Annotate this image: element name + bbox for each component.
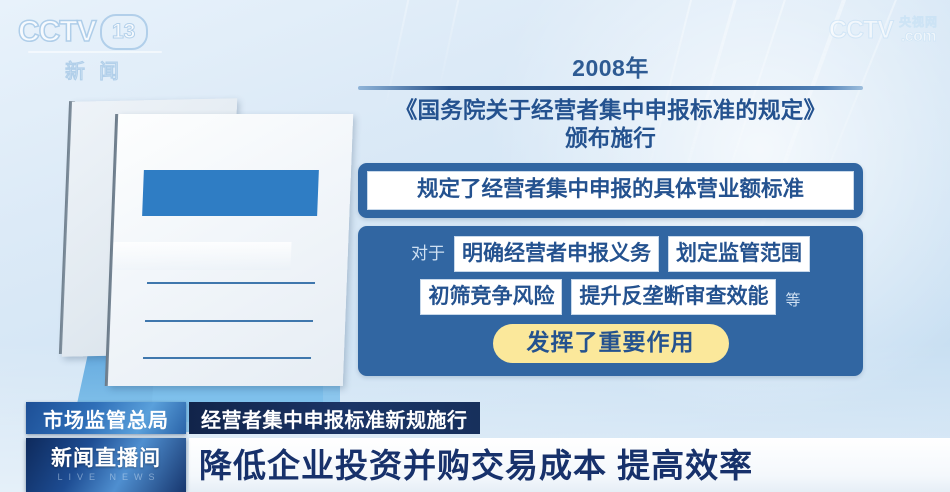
effects-panel: 对于 明确经营者申报义务 划定监管范围 初筛竞争风险 提升反垄断审查效能 等 发…: [358, 226, 863, 376]
tag-item: 明确经营者申报义务: [454, 236, 659, 272]
watermark-cn-block: 央视网 .com: [899, 16, 938, 45]
document-title-block: [142, 170, 319, 216]
tag-item: 提升反垄断审查效能: [571, 279, 776, 315]
tag-item: 初筛竞争风险: [420, 279, 562, 315]
infographic-content: 2008年 《国务院关于经营者集中申报标准的规定》 颁布施行 规定了经营者集中申…: [358, 56, 863, 376]
watermark-cn-text: 央视网: [899, 16, 938, 29]
program-subtitle: LIVE NEWS: [51, 473, 160, 482]
broadcast-screen: CCTV 13 新闻 CCTV 央视网 .com 2008年 《国务院关于经营者…: [0, 0, 950, 492]
watermark-brand: CCTV: [829, 16, 893, 45]
document-text-line: [147, 282, 315, 284]
lower-third-top-row: 市场监管总局 经营者集中申报标准新规施行: [0, 402, 950, 438]
logo-underline: [28, 51, 162, 53]
regulation-title: 《国务院关于经营者集中申报标准的规定》 颁布施行: [358, 97, 863, 152]
highlight-panel: 规定了经营者集中申报的具体营业额标准: [358, 163, 863, 218]
cctv-com-watermark: CCTV 央视网 .com: [829, 16, 938, 45]
year-heading: 2008年: [358, 56, 863, 81]
regulation-title-line1: 《国务院关于经营者集中申报标准的规定》: [395, 98, 826, 123]
program-badge: 新闻直播间 LIVE NEWS: [26, 438, 186, 492]
tag-item: 划定监管范围: [668, 236, 810, 272]
tag-row-2: 初筛竞争风险 提升反垄断审查效能 等: [367, 279, 854, 315]
tag-row-1: 对于 明确经营者申报义务 划定监管范围: [367, 236, 854, 272]
document-illustration: [55, 92, 375, 412]
headline-text: 降低企业投资并购交易成本 提高效率: [189, 449, 753, 482]
topic-bar: 经营者集中申报标准新规施行: [189, 402, 480, 434]
lower-third: 市场监管总局 经营者集中申报标准新规施行 新闻直播间 LIVE NEWS 降低企…: [0, 402, 950, 492]
trailing-label: 等: [785, 289, 800, 315]
document-text-line: [143, 357, 311, 359]
cctv-channel-logo: CCTV 13 新闻: [18, 14, 168, 72]
conclusion-pill: 发挥了重要作用: [493, 324, 729, 363]
document-fold-highlight: [112, 242, 291, 270]
highlight-box: 规定了经营者集中申报的具体营业额标准: [367, 171, 854, 210]
headline-bar: 降低企业投资并购交易成本 提高效率: [189, 438, 950, 492]
watermark-domain: .com: [899, 29, 938, 46]
regulation-title-line2: 颁布施行: [358, 125, 863, 152]
program-name: 新闻直播间: [51, 448, 161, 469]
conclusion-row: 发挥了重要作用: [367, 324, 854, 363]
channel-number-badge: 13: [100, 14, 148, 50]
channel-name-cn: 新闻: [18, 55, 168, 84]
agency-badge: 市场监管总局: [26, 402, 186, 434]
document-text-line: [145, 320, 313, 322]
lower-third-bottom-row: 新闻直播间 LIVE NEWS 降低企业投资并购交易成本 提高效率: [0, 438, 950, 492]
year-divider: [358, 86, 863, 90]
logo-row: CCTV 13: [18, 14, 168, 50]
cctv-wordmark: CCTV: [18, 15, 96, 49]
lead-label: 对于: [411, 245, 445, 262]
